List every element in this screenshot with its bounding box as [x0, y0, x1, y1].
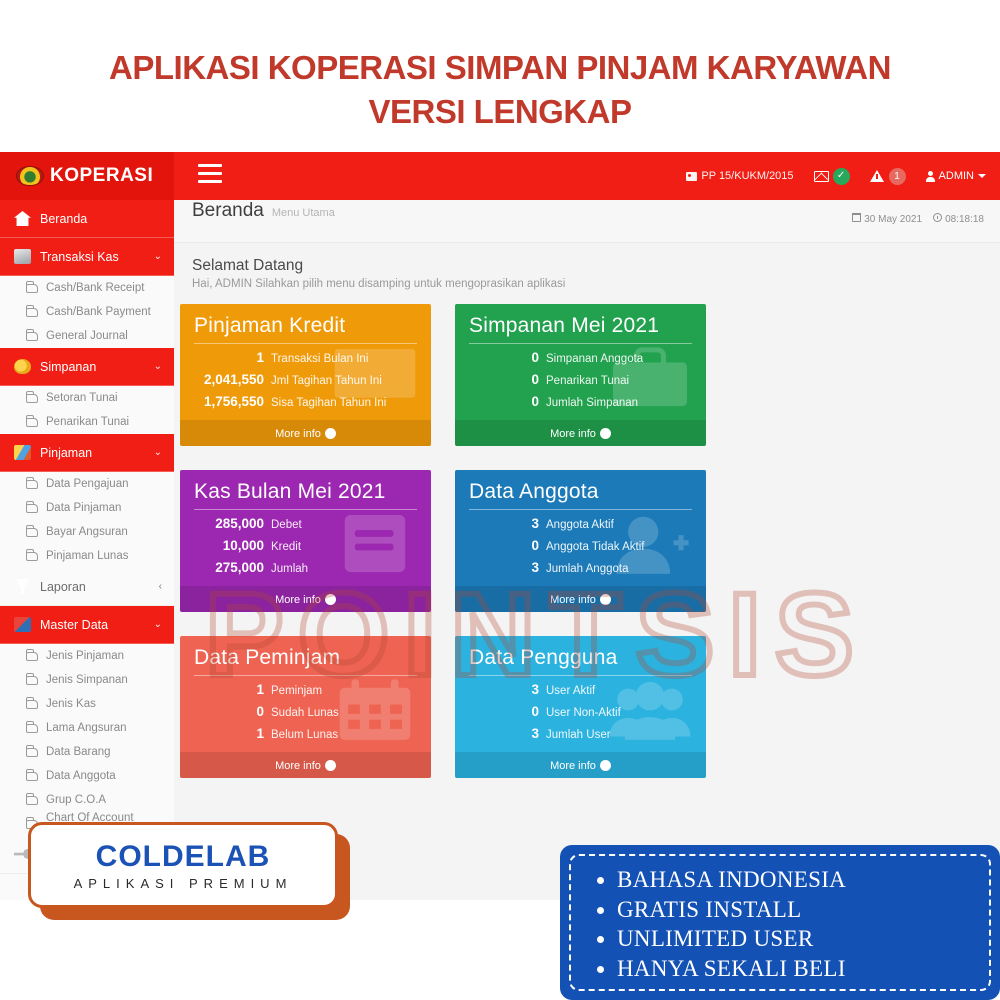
sidebar-subitem-pinjaman-lunas[interactable]: Pinjaman Lunas: [0, 544, 174, 568]
sidebar-subitem-jenis-pinjaman[interactable]: Jenis Pinjaman: [0, 644, 174, 668]
stat-value: 0: [469, 394, 539, 409]
calendar-icon: [852, 213, 861, 222]
folder-icon: [26, 504, 38, 513]
sidebar-subitem-data-pinjaman[interactable]: Data Pinjaman: [0, 496, 174, 520]
sidebar-subitem-label: General Journal: [46, 330, 128, 342]
stat-row: 1Peminjam: [194, 682, 417, 697]
stat-label: Sisa Tagihan Tahun Ini: [271, 397, 386, 409]
messages-button[interactable]: ✓: [814, 168, 850, 185]
sidebar-subitem-data-barang[interactable]: Data Barang: [0, 740, 174, 764]
features-list: BAHASA INDONESIAGRATIS INSTALLUNLIMITED …: [617, 865, 979, 983]
stat-card-body: Data Pengguna3User Aktif0User Non-Aktif3…: [455, 636, 706, 752]
time-value: 08:18:18: [945, 214, 984, 225]
arrow-circle-right-icon: [325, 760, 336, 771]
sidebar-subitem-label: Penarikan Tunai: [46, 416, 129, 428]
chevron-icon: ⌄: [154, 447, 162, 458]
stat-label: Belum Lunas: [271, 729, 338, 741]
stat-label: Anggota Aktif: [546, 519, 614, 531]
stat-value: 1: [194, 726, 264, 741]
promo-headline: APLIKASI KOPERASI SIMPAN PINJAM KARYAWAN…: [0, 46, 1000, 134]
sidebar-subitem-label: Bayar Angsuran: [46, 526, 128, 538]
coldelab-brand: COLDELAB: [96, 840, 271, 874]
clock-icon: [933, 213, 942, 222]
arrow-circle-right-icon: [600, 428, 611, 439]
stat-row: 0Anggota Tidak Aktif: [469, 538, 692, 553]
stat-row: 3Anggota Aktif: [469, 516, 692, 531]
envelope-icon: [814, 171, 829, 182]
stat-row: 0Simpanan Anggota: [469, 350, 692, 365]
stat-value: 3: [469, 516, 539, 531]
stat-card-title: Data Anggota: [469, 480, 692, 510]
sidebar-subitem-cash-bank-payment[interactable]: Cash/Bank Payment: [0, 300, 174, 324]
sidebar-subitem-setoran-tunai[interactable]: Setoran Tunai: [0, 386, 174, 410]
stat-label: Debet: [271, 519, 302, 531]
folder-icon: [26, 772, 38, 781]
arrow-circle-right-icon: [325, 594, 336, 605]
stat-card-body: Kas Bulan Mei 2021285,000Debet10,000Kred…: [180, 470, 431, 586]
stat-value: 0: [469, 372, 539, 387]
loan-icon: [14, 445, 31, 460]
folder-icon: [26, 528, 38, 537]
sidebar-subitem-label: Jenis Simpanan: [46, 674, 128, 686]
folder-icon: [26, 552, 38, 561]
user-icon: [926, 171, 935, 182]
stat-card-title: Simpanan Mei 2021: [469, 314, 692, 344]
welcome-text: Hai, ADMIN Silahkan pilih menu disamping…: [192, 278, 982, 290]
stat-row: 3Jumlah User: [469, 726, 692, 741]
stat-label: User Aktif: [546, 685, 595, 697]
master-data-icon: [14, 617, 31, 632]
sidebar-subitem-cash-bank-receipt[interactable]: Cash/Bank Receipt: [0, 276, 174, 300]
chevron-icon: ‹: [159, 581, 162, 592]
sidebar-item-label: Pinjaman: [40, 446, 92, 460]
user-menu[interactable]: ADMIN: [926, 170, 986, 182]
date-value: 30 May 2021: [864, 214, 922, 225]
stat-label: Jml Tagihan Tahun Ini: [271, 375, 382, 387]
stat-value: 2,041,550: [194, 372, 264, 387]
stat-row: 1Belum Lunas: [194, 726, 417, 741]
stat-value: 3: [469, 682, 539, 697]
sidebar-item-label: Master Data: [40, 618, 108, 632]
stat-label: Jumlah Anggota: [546, 563, 628, 575]
sidebar-subitem-label: Lama Angsuran: [46, 722, 127, 734]
promo-headline-line2: VERSI LENGKAP: [0, 90, 1000, 134]
stat-value: 0: [194, 704, 264, 719]
folder-icon: [26, 284, 38, 293]
stat-value: 0: [469, 704, 539, 719]
more-info-button[interactable]: More info: [180, 420, 431, 446]
sidebar-subitem-label: Jenis Pinjaman: [46, 650, 124, 662]
stat-value: 1: [194, 682, 264, 697]
stat-value: 0: [469, 538, 539, 553]
sidebar-subitem-penarikan-tunai[interactable]: Penarikan Tunai: [0, 410, 174, 434]
stat-row: 0Penarikan Tunai: [469, 372, 692, 387]
promo-headline-line1: APLIKASI KOPERASI SIMPAN PINJAM KARYAWAN: [109, 49, 891, 86]
sidebar-subitem-label: Setoran Tunai: [46, 392, 118, 404]
features-panel: BAHASA INDONESIAGRATIS INSTALLUNLIMITED …: [560, 845, 1000, 1000]
dashboard-cards: 1Pinjaman Kredit1Transaksi Bulan Ini2,04…: [174, 290, 1000, 778]
feature-item: GRATIS INSTALL: [617, 895, 979, 925]
savings-icon: [14, 359, 31, 374]
folder-icon: [26, 308, 38, 317]
more-info-label: More info: [550, 428, 596, 440]
chevron-icon: ⌄: [154, 251, 162, 262]
stat-card-body: Pinjaman Kredit1Transaksi Bulan Ini2,041…: [180, 304, 431, 420]
koperasi-logo-icon: [16, 166, 44, 186]
menu-toggle-icon[interactable]: [198, 164, 222, 186]
sidebar-subitem-label: Pinjaman Lunas: [46, 550, 128, 562]
stat-value: 3: [469, 560, 539, 575]
feature-item: HANYA SEKALI BELI: [617, 954, 979, 984]
arrow-circle-right-icon: [600, 594, 611, 605]
stat-row: 0Sudah Lunas: [194, 704, 417, 719]
brand-name: KOPERASI: [50, 165, 153, 187]
brand-logo-area[interactable]: KOPERASI: [0, 152, 174, 200]
chevron-down-icon: [978, 174, 986, 178]
stat-row: 1,756,550Sisa Tagihan Tahun Ini: [194, 394, 417, 409]
stat-value: 1,756,550: [194, 394, 264, 409]
sidebar-item-label: Beranda: [40, 212, 87, 226]
current-time: 08:18:18: [933, 213, 984, 225]
more-info-label: More info: [275, 760, 321, 772]
notifications-button[interactable]: 1: [870, 168, 906, 185]
stat-card-data-anggota[interactable]: Data Anggota3Anggota Aktif0Anggota Tidak…: [455, 470, 706, 612]
stat-row: 10,000Kredit: [194, 538, 417, 553]
stat-card-title: Pinjaman Kredit: [194, 314, 417, 344]
stat-value: 3: [469, 726, 539, 741]
page-title: Beranda: [192, 200, 264, 222]
stat-label: Jumlah Simpanan: [546, 397, 638, 409]
coldelab-badge: COLDELAB APLIKASI PREMIUM: [28, 822, 350, 920]
folder-icon: [26, 700, 38, 709]
more-info-button[interactable]: More info: [180, 586, 431, 612]
stat-value: 275,000: [194, 560, 264, 575]
top-navbar: KOPERASI PP 15/KUKM/2015 ✓ 1 ADMIN: [0, 152, 1000, 200]
application-screenshot: KOPERASI PP 15/KUKM/2015 ✓ 1 ADMIN Ber: [0, 152, 1000, 900]
stat-label: Penarikan Tunai: [546, 375, 629, 387]
stat-value: 1: [194, 350, 264, 365]
sidebar-subitem-lama-angsuran[interactable]: Lama Angsuran: [0, 716, 174, 740]
sidebar-subitem-bayar-angsuran[interactable]: Bayar Angsuran: [0, 520, 174, 544]
stat-card-body: Data Peminjam1Peminjam0Sudah Lunas1Belum…: [180, 636, 431, 752]
more-info-button[interactable]: More info: [455, 586, 706, 612]
home-icon: [14, 211, 31, 226]
sidebar-subitem-label: Data Pinjaman: [46, 502, 121, 514]
sidebar-item-label: Transaksi Kas: [40, 250, 119, 264]
sidebar-subitem-label: Data Barang: [46, 746, 111, 758]
user-name: ADMIN: [939, 170, 974, 182]
more-info-label: More info: [275, 428, 321, 440]
sidebar-subitem-jenis-simpanan[interactable]: Jenis Simpanan: [0, 668, 174, 692]
folder-icon: [26, 652, 38, 661]
warning-triangle-icon: [870, 170, 884, 182]
sidebar: BerandaTransaksi Kas⌄Cash/Bank ReceiptCa…: [0, 200, 174, 900]
stat-row: 275,000Jumlah: [194, 560, 417, 575]
sidebar-subitem-label: Cash/Bank Payment: [46, 306, 151, 318]
more-info-label: More info: [275, 594, 321, 606]
stat-label: Jumlah: [271, 563, 308, 575]
sidebar-subitem-grup-c-o-a[interactable]: Grup C.O.A: [0, 788, 174, 812]
cash-icon: [14, 249, 31, 264]
stat-label: Peminjam: [271, 685, 322, 697]
sidebar-subitem-label: Data Anggota: [46, 770, 116, 782]
welcome-panel: Selamat Datang Hai, ADMIN Silahkan pilih…: [174, 243, 1000, 290]
sidebar-subitem-data-pengajuan[interactable]: Data Pengajuan: [0, 472, 174, 496]
stat-card-simpanan-mei-2021[interactable]: Simpanan Mei 20210Simpanan Anggota0Penar…: [455, 304, 706, 446]
more-info-button[interactable]: More info: [455, 752, 706, 778]
stat-label: Transaksi Bulan Ini: [271, 353, 368, 365]
regulation-label: PP 15/KUKM/2015: [701, 170, 793, 182]
main-content: Beranda Menu Utama 30 May 2021 08:18:18 …: [174, 200, 1000, 900]
stat-card-body: Simpanan Mei 20210Simpanan Anggota0Penar…: [455, 304, 706, 420]
page-datetime: 30 May 2021 08:18:18: [852, 213, 984, 225]
sidebar-item-beranda[interactable]: Beranda: [0, 200, 174, 238]
sidebar-item-master-data[interactable]: Master Data⌄: [0, 606, 174, 644]
stat-card-title: Kas Bulan Mei 2021: [194, 480, 417, 510]
stat-card-pinjaman-kredit[interactable]: 1Pinjaman Kredit1Transaksi Bulan Ini2,04…: [180, 304, 431, 446]
stat-value: 10,000: [194, 538, 264, 553]
navbar-right: PP 15/KUKM/2015 ✓ 1 ADMIN: [686, 152, 986, 200]
regulation-link[interactable]: PP 15/KUKM/2015: [686, 170, 793, 182]
tag-icon: [686, 172, 697, 181]
stat-row: 285,000Debet: [194, 516, 417, 531]
feature-item: UNLIMITED USER: [617, 924, 979, 954]
more-info-button[interactable]: More info: [180, 752, 431, 778]
sidebar-item-label: Simpanan: [40, 360, 96, 374]
folder-icon: [26, 748, 38, 757]
stat-row: 3Jumlah Anggota: [469, 560, 692, 575]
sidebar-item-transaksi-kas[interactable]: Transaksi Kas⌄: [0, 238, 174, 276]
current-date: 30 May 2021: [852, 213, 922, 225]
stat-row: 2,041,550Jml Tagihan Tahun Ini: [194, 372, 417, 387]
sidebar-subitem-label: Jenis Kas: [46, 698, 96, 710]
stat-label: Jumlah User: [546, 729, 611, 741]
stat-card-data-pengguna[interactable]: Data Pengguna3User Aktif0User Non-Aktif3…: [455, 636, 706, 778]
feature-item: BAHASA INDONESIA: [617, 865, 979, 895]
stat-card-title: Data Pengguna: [469, 646, 692, 676]
stat-card-title: Data Peminjam: [194, 646, 417, 676]
folder-icon: [26, 394, 38, 403]
features-inner-border: BAHASA INDONESIAGRATIS INSTALLUNLIMITED …: [569, 854, 991, 991]
folder-icon: [26, 480, 38, 489]
stat-row: 3User Aktif: [469, 682, 692, 697]
report-icon: [14, 579, 31, 594]
alert-count-badge: 1: [889, 168, 906, 185]
stat-card-data-peminjam[interactable]: Data Peminjam1Peminjam0Sudah Lunas1Belum…: [180, 636, 431, 778]
welcome-title: Selamat Datang: [192, 257, 982, 275]
arrow-circle-right-icon: [325, 428, 336, 439]
sidebar-item-pinjaman[interactable]: Pinjaman⌄: [0, 434, 174, 472]
folder-icon: [26, 796, 38, 805]
chevron-icon: ⌄: [154, 619, 162, 630]
folder-icon: [26, 676, 38, 685]
sidebar-subitem-jenis-kas[interactable]: Jenis Kas: [0, 692, 174, 716]
sidebar-subitem-label: Grup C.O.A: [46, 794, 106, 806]
sidebar-subitem-label: Cash/Bank Receipt: [46, 282, 144, 294]
breadcrumb: Menu Utama: [272, 207, 335, 219]
stat-value: 0: [469, 350, 539, 365]
stat-label: User Non-Aktif: [546, 707, 621, 719]
stat-value: 285,000: [194, 516, 264, 531]
page-header: Beranda Menu Utama 30 May 2021 08:18:18: [174, 200, 1000, 243]
stat-label: Anggota Tidak Aktif: [546, 541, 644, 553]
sidebar-subitem-data-anggota[interactable]: Data Anggota: [0, 764, 174, 788]
coldelab-badge-card: COLDELAB APLIKASI PREMIUM: [28, 822, 338, 908]
more-info-button[interactable]: More info: [455, 420, 706, 446]
arrow-circle-right-icon: [600, 760, 611, 771]
stat-card-body: Data Anggota3Anggota Aktif0Anggota Tidak…: [455, 470, 706, 586]
coldelab-tagline: APLIKASI PREMIUM: [74, 876, 293, 891]
stat-label: Sudah Lunas: [271, 707, 339, 719]
stat-card-kas-bulan-mei-2021[interactable]: Kas Bulan Mei 2021285,000Debet10,000Kred…: [180, 470, 431, 612]
stat-label: Simpanan Anggota: [546, 353, 643, 365]
chevron-icon: ⌄: [154, 361, 162, 372]
sidebar-subitem-general-journal[interactable]: General Journal: [0, 324, 174, 348]
sidebar-item-laporan[interactable]: Laporan‹: [0, 568, 174, 606]
check-badge-icon: ✓: [833, 168, 850, 185]
sidebar-item-simpanan[interactable]: Simpanan⌄: [0, 348, 174, 386]
sidebar-item-label: Laporan: [40, 580, 86, 594]
folder-icon: [26, 724, 38, 733]
stat-row: 0Jumlah Simpanan: [469, 394, 692, 409]
folder-icon: [26, 418, 38, 427]
more-info-label: More info: [550, 760, 596, 772]
folder-icon: [26, 332, 38, 341]
stat-row: 0User Non-Aktif: [469, 704, 692, 719]
stat-row: 1Transaksi Bulan Ini: [194, 350, 417, 365]
more-info-label: More info: [550, 594, 596, 606]
stat-label: Kredit: [271, 541, 301, 553]
sidebar-subitem-label: Data Pengajuan: [46, 478, 128, 490]
